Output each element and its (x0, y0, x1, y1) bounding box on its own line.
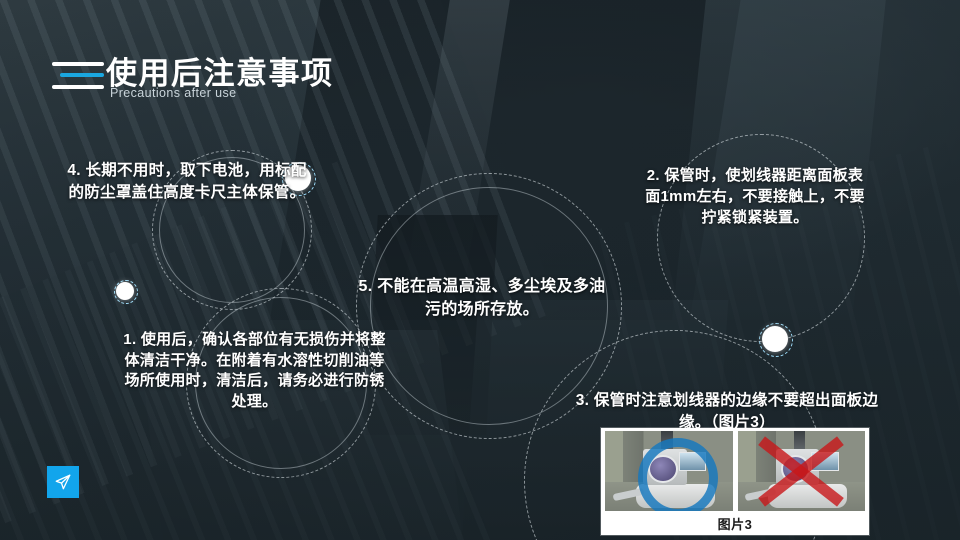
paper-plane-icon (54, 473, 72, 491)
three-lines-mark-icon (52, 62, 108, 98)
figure-panel: 图片3 (601, 428, 869, 535)
paper-plane-badge[interactable] (47, 466, 79, 498)
decor-dot-mid-left (116, 282, 134, 300)
note-item-2: 2. 保管时，使划线器距离面板表面1mm左右，不要接触上，不要拧紧锁紧装置。 (645, 165, 865, 228)
decor-dot-right (762, 326, 788, 352)
note-item-4: 4. 长期不用时，取下电池，用标配的防尘罩盖住高度卡尺主体保管。 (62, 160, 312, 204)
ok-circle-marker-icon (638, 438, 718, 511)
figure-photo-incorrect (738, 431, 866, 511)
figure-photos (605, 431, 865, 511)
slide-canvas: 使用后注意事项 Precautions after use 4. 长期不用时，取… (0, 0, 960, 540)
figure-caption: 图片3 (601, 514, 869, 533)
page-subtitle: Precautions after use (110, 86, 237, 100)
figure-photo-correct (605, 431, 733, 511)
note-item-5: 5. 不能在高温高湿、多尘埃及多油污的场所存放。 (358, 276, 606, 321)
note-item-1: 1. 使用后，确认各部位有无损伤并将整体清洁干净。在附着有水溶性切削油等场所使用… (122, 330, 387, 413)
